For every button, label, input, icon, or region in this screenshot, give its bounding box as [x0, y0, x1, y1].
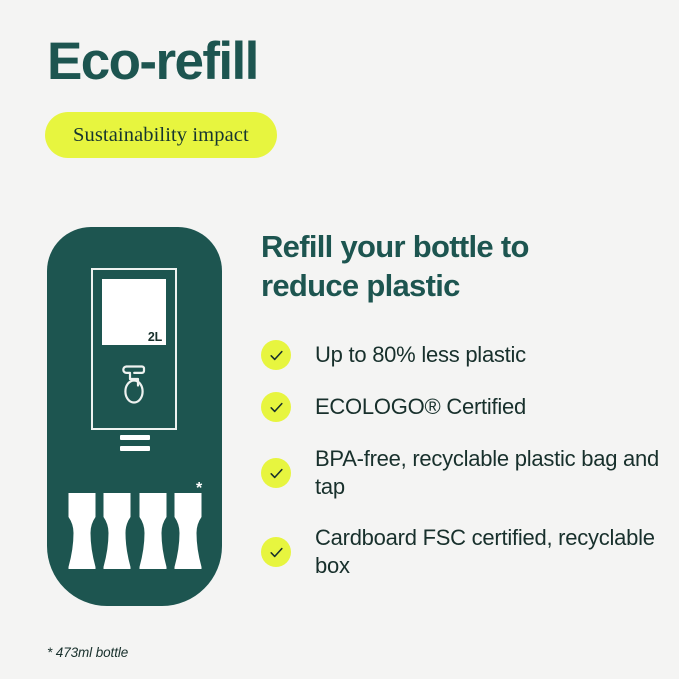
feature-label: Up to 80% less plastic	[315, 340, 526, 369]
box-label-panel: 2L	[102, 279, 166, 345]
list-item: BPA-free, recyclable plastic bag and tap	[261, 444, 661, 501]
feature-label: BPA-free, recyclable plastic bag and tap	[315, 444, 661, 501]
refill-box-illustration: 2L	[47, 227, 222, 606]
list-item: Up to 80% less plastic	[261, 340, 661, 370]
eco-refill-infographic: Eco-refill Sustainability impact 2L	[0, 0, 679, 679]
asterisk-marker: *	[196, 481, 202, 497]
check-icon	[261, 458, 291, 488]
check-icon	[261, 537, 291, 567]
feature-list: Up to 80% less plastic ECOLOGO® Certifie…	[261, 340, 661, 603]
list-item: ECOLOGO® Certified	[261, 392, 661, 422]
section-heading: Refill your bottle to reduce plastic	[261, 228, 621, 306]
bottle-icon	[102, 491, 132, 571]
bottles-row	[67, 491, 203, 571]
feature-label: Cardboard FSC certified, recyclable box	[315, 523, 661, 580]
bottle-icon	[138, 491, 168, 571]
check-icon	[261, 340, 291, 370]
page-title: Eco-refill	[47, 34, 258, 90]
equals-bar-top	[120, 435, 150, 440]
tap-spout-icon	[114, 362, 154, 406]
bottle-icon	[67, 491, 97, 571]
bottle-icon	[173, 491, 203, 571]
status-badge: Sustainability impact	[45, 112, 277, 158]
equals-symbol	[120, 435, 150, 451]
refill-box-outline: 2L	[91, 268, 177, 430]
feature-label: ECOLOGO® Certified	[315, 392, 526, 421]
equals-bar-bottom	[120, 446, 150, 451]
list-item: Cardboard FSC certified, recyclable box	[261, 523, 661, 580]
status-badge-label: Sustainability impact	[73, 124, 249, 147]
volume-label: 2L	[148, 330, 162, 344]
footnote: * 473ml bottle	[47, 645, 128, 660]
check-icon	[261, 392, 291, 422]
